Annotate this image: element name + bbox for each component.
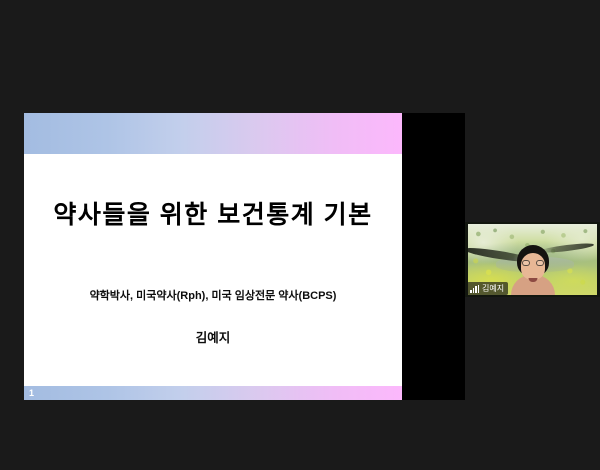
meeting-stage: 약사들을 위한 보건통계 기본 약학박사, 미국약사(Rph), 미국 임상전문… (0, 0, 600, 470)
participant-video-tile[interactable]: 김예지 (465, 222, 600, 297)
glasses-lens-right (536, 260, 544, 266)
participant-person (510, 245, 556, 295)
person-glasses (522, 260, 544, 266)
person-face (521, 253, 545, 280)
slide-title: 약사들을 위한 보건통계 기본 (53, 195, 372, 231)
participant-name-label: 김예지 (467, 282, 508, 295)
slide-presenter-name: 김예지 (196, 327, 231, 346)
participant-name-text: 김예지 (482, 284, 504, 293)
slide-bottom-gradient-band (24, 386, 402, 400)
screen-share-region[interactable]: 약사들을 위한 보건통계 기본 약학박사, 미국약사(Rph), 미국 임상전문… (24, 113, 465, 400)
presentation-slide[interactable]: 약사들을 위한 보건통계 기본 약학박사, 미국약사(Rph), 미국 임상전문… (24, 113, 402, 400)
signal-strength-icon (470, 285, 479, 293)
slide-credentials: 약학박사, 미국약사(Rph), 미국 임상전문 약사(BCPS) (90, 287, 337, 303)
glasses-lens-left (522, 260, 530, 266)
slide-number: 1 (29, 387, 34, 399)
slide-top-gradient-band (24, 113, 402, 154)
slide-body: 약사들을 위한 보건통계 기본 약학박사, 미국약사(Rph), 미국 임상전문… (24, 154, 402, 386)
